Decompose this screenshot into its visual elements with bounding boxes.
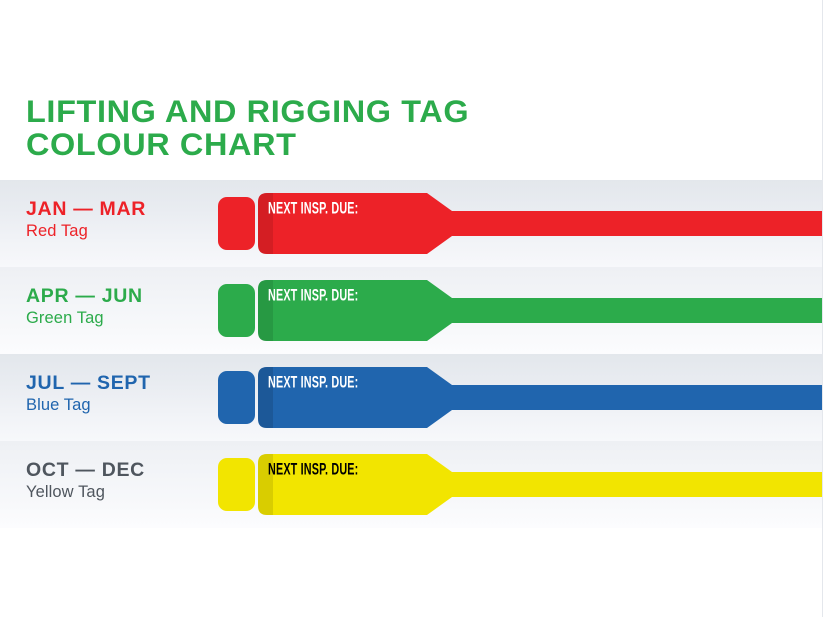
tag-buckle-green — [218, 284, 255, 337]
tag-sublabel-green: Green Tag — [26, 308, 216, 328]
quarter-label-green: APR — JUN — [26, 285, 216, 307]
tag-sublabel-blue: Blue Tag — [26, 395, 216, 415]
tag-colour-chart-page: LIFTING AND RIGGING TAG COLOUR CHART JAN… — [0, 0, 823, 617]
page-title: LIFTING AND RIGGING TAG COLOUR CHART — [26, 96, 646, 160]
chart-row-yellow: OCT — DEC Yellow Tag NEXT INSP. DUE: — [0, 441, 823, 528]
quarter-label-blue: JUL — SEPT — [26, 372, 216, 394]
tag-graphic-blue: NEXT INSP. DUE: — [216, 354, 823, 441]
page-title-line-1: LIFTING AND RIGGING TAG — [26, 96, 665, 127]
chart-row-green: APR — JUN Green Tag NEXT INSP. DUE: — [0, 267, 823, 354]
tag-text-green: NEXT INSP. DUE: — [268, 287, 358, 304]
tag-buckle-red — [218, 197, 255, 250]
row-label-group-red: JAN — MAR Red Tag — [26, 198, 216, 241]
row-label-group-green: APR — JUN Green Tag — [26, 285, 216, 328]
quarter-label-yellow: OCT — DEC — [26, 459, 216, 481]
quarter-label-red: JAN — MAR — [26, 198, 216, 220]
tag-graphic-red: NEXT INSP. DUE: — [216, 180, 823, 267]
tag-sublabel-yellow: Yellow Tag — [26, 482, 216, 502]
tag-buckle-blue — [218, 371, 255, 424]
row-label-group-yellow: OCT — DEC Yellow Tag — [26, 459, 216, 502]
tag-text-blue: NEXT INSP. DUE: — [268, 374, 358, 391]
tag-text-red: NEXT INSP. DUE: — [268, 200, 358, 217]
tag-text-yellow: NEXT INSP. DUE: — [268, 461, 358, 478]
row-label-group-blue: JUL — SEPT Blue Tag — [26, 372, 216, 415]
tag-sublabel-red: Red Tag — [26, 221, 216, 241]
chart-row-blue: JUL — SEPT Blue Tag NEXT INSP. DUE: — [0, 354, 823, 441]
page-title-line-2: COLOUR CHART — [26, 129, 665, 160]
tag-graphic-green: NEXT INSP. DUE: — [216, 267, 823, 354]
tag-graphic-yellow: NEXT INSP. DUE: — [216, 441, 823, 528]
chart-row-red: JAN — MAR Red Tag NEXT INSP. DUE: — [0, 180, 823, 267]
tag-buckle-yellow — [218, 458, 255, 511]
